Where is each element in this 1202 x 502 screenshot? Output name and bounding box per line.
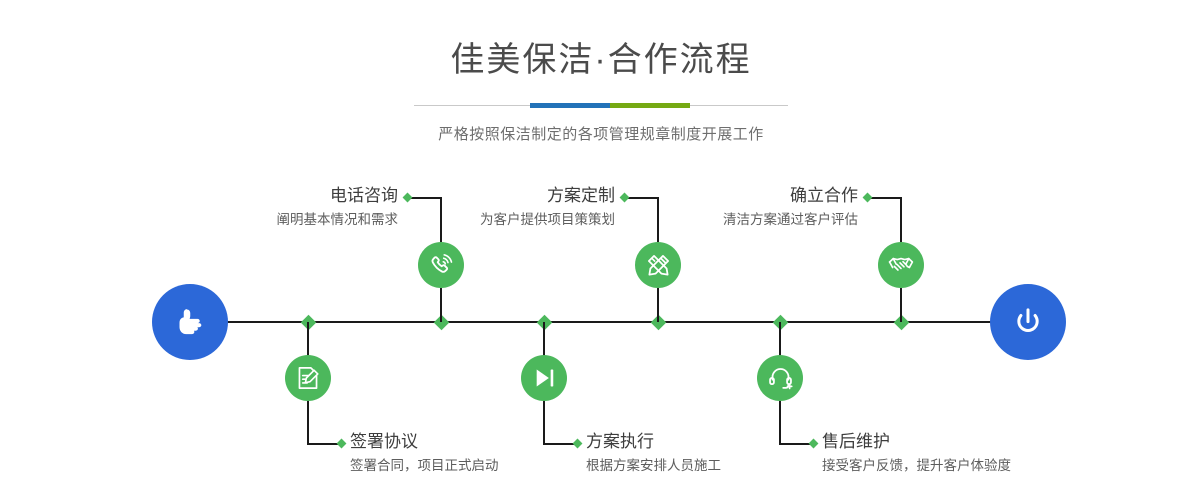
step-desc-2: 签署合同，项目正式启动 bbox=[350, 457, 610, 475]
step-title-6: 售后维护 bbox=[822, 431, 1102, 452]
leader-horz-step-2 bbox=[307, 443, 340, 445]
headset-support-icon bbox=[767, 365, 794, 392]
step-node-5[interactable] bbox=[878, 242, 924, 288]
step-label-6: 售后维护 接受客户反馈，提升客户体验度 bbox=[822, 431, 1102, 475]
page-title: 佳美保洁·合作流程 bbox=[0, 43, 1202, 77]
pointing-hand-icon bbox=[170, 302, 210, 342]
divider-blue-segment bbox=[530, 103, 610, 108]
leader-dot-step-5 bbox=[863, 193, 873, 203]
timeline-end-badge bbox=[990, 284, 1066, 360]
step-node-1[interactable] bbox=[418, 242, 464, 288]
step-node-2[interactable] bbox=[285, 355, 331, 401]
divider-green-segment bbox=[610, 103, 690, 108]
step-title-4: 方案执行 bbox=[586, 431, 846, 452]
step-node-6[interactable] bbox=[757, 355, 803, 401]
step-title-2: 签署协议 bbox=[350, 431, 610, 452]
step-title-5: 确立合作 bbox=[608, 185, 858, 206]
pencil-ruler-icon bbox=[645, 252, 672, 279]
leader-horz-step-5 bbox=[871, 197, 901, 199]
play-skip-icon bbox=[531, 365, 557, 391]
leader-dot-step-2 bbox=[337, 439, 347, 449]
step-node-4[interactable] bbox=[521, 355, 567, 401]
stem-step-5 bbox=[900, 288, 902, 322]
handshake-icon bbox=[887, 251, 915, 279]
step-label-3: 方案定制 为客户提供项目策策划 bbox=[365, 185, 615, 229]
step-desc-6: 接受客户反馈，提升客户体验度 bbox=[822, 457, 1102, 475]
stem-step-1 bbox=[440, 288, 442, 322]
document-pen-icon bbox=[295, 365, 321, 391]
stem-step-3 bbox=[657, 288, 659, 322]
step-label-5: 确立合作 清洁方案通过客户评估 bbox=[608, 185, 858, 229]
step-label-2: 签署协议 签署合同，项目正式启动 bbox=[350, 431, 610, 475]
leader-vert-step-5 bbox=[900, 197, 902, 242]
step-desc-4: 根据方案安排人员施工 bbox=[586, 457, 846, 475]
step-node-3[interactable] bbox=[635, 242, 681, 288]
stem-step-6 bbox=[779, 322, 781, 356]
step-desc-5: 清洁方案通过客户评估 bbox=[608, 211, 858, 229]
stem-step-4 bbox=[543, 322, 545, 356]
flow-diagram-root: 佳美保洁·合作流程 严格按照保洁制定的各项管理规章制度开展工作 bbox=[0, 0, 1202, 502]
step-desc-3: 为客户提供项目策策划 bbox=[365, 211, 615, 229]
step-label-1: 电话咨询 阐明基本情况和需求 bbox=[148, 185, 398, 229]
page-header: 佳美保洁·合作流程 严格按照保洁制定的各项管理规章制度开展工作 bbox=[0, 0, 1202, 144]
step-desc-1: 阐明基本情况和需求 bbox=[148, 211, 398, 229]
phone-call-icon bbox=[428, 252, 455, 279]
timeline-start-badge bbox=[152, 284, 228, 360]
stem-step-2 bbox=[307, 322, 309, 356]
step-title-1: 电话咨询 bbox=[148, 185, 398, 206]
step-title-3: 方案定制 bbox=[365, 185, 615, 206]
page-subtitle: 严格按照保洁制定的各项管理规章制度开展工作 bbox=[0, 123, 1202, 144]
leader-vert-step-2 bbox=[307, 401, 309, 445]
power-icon bbox=[1008, 302, 1048, 342]
step-label-4: 方案执行 根据方案安排人员施工 bbox=[586, 431, 846, 475]
title-divider bbox=[414, 101, 788, 111]
